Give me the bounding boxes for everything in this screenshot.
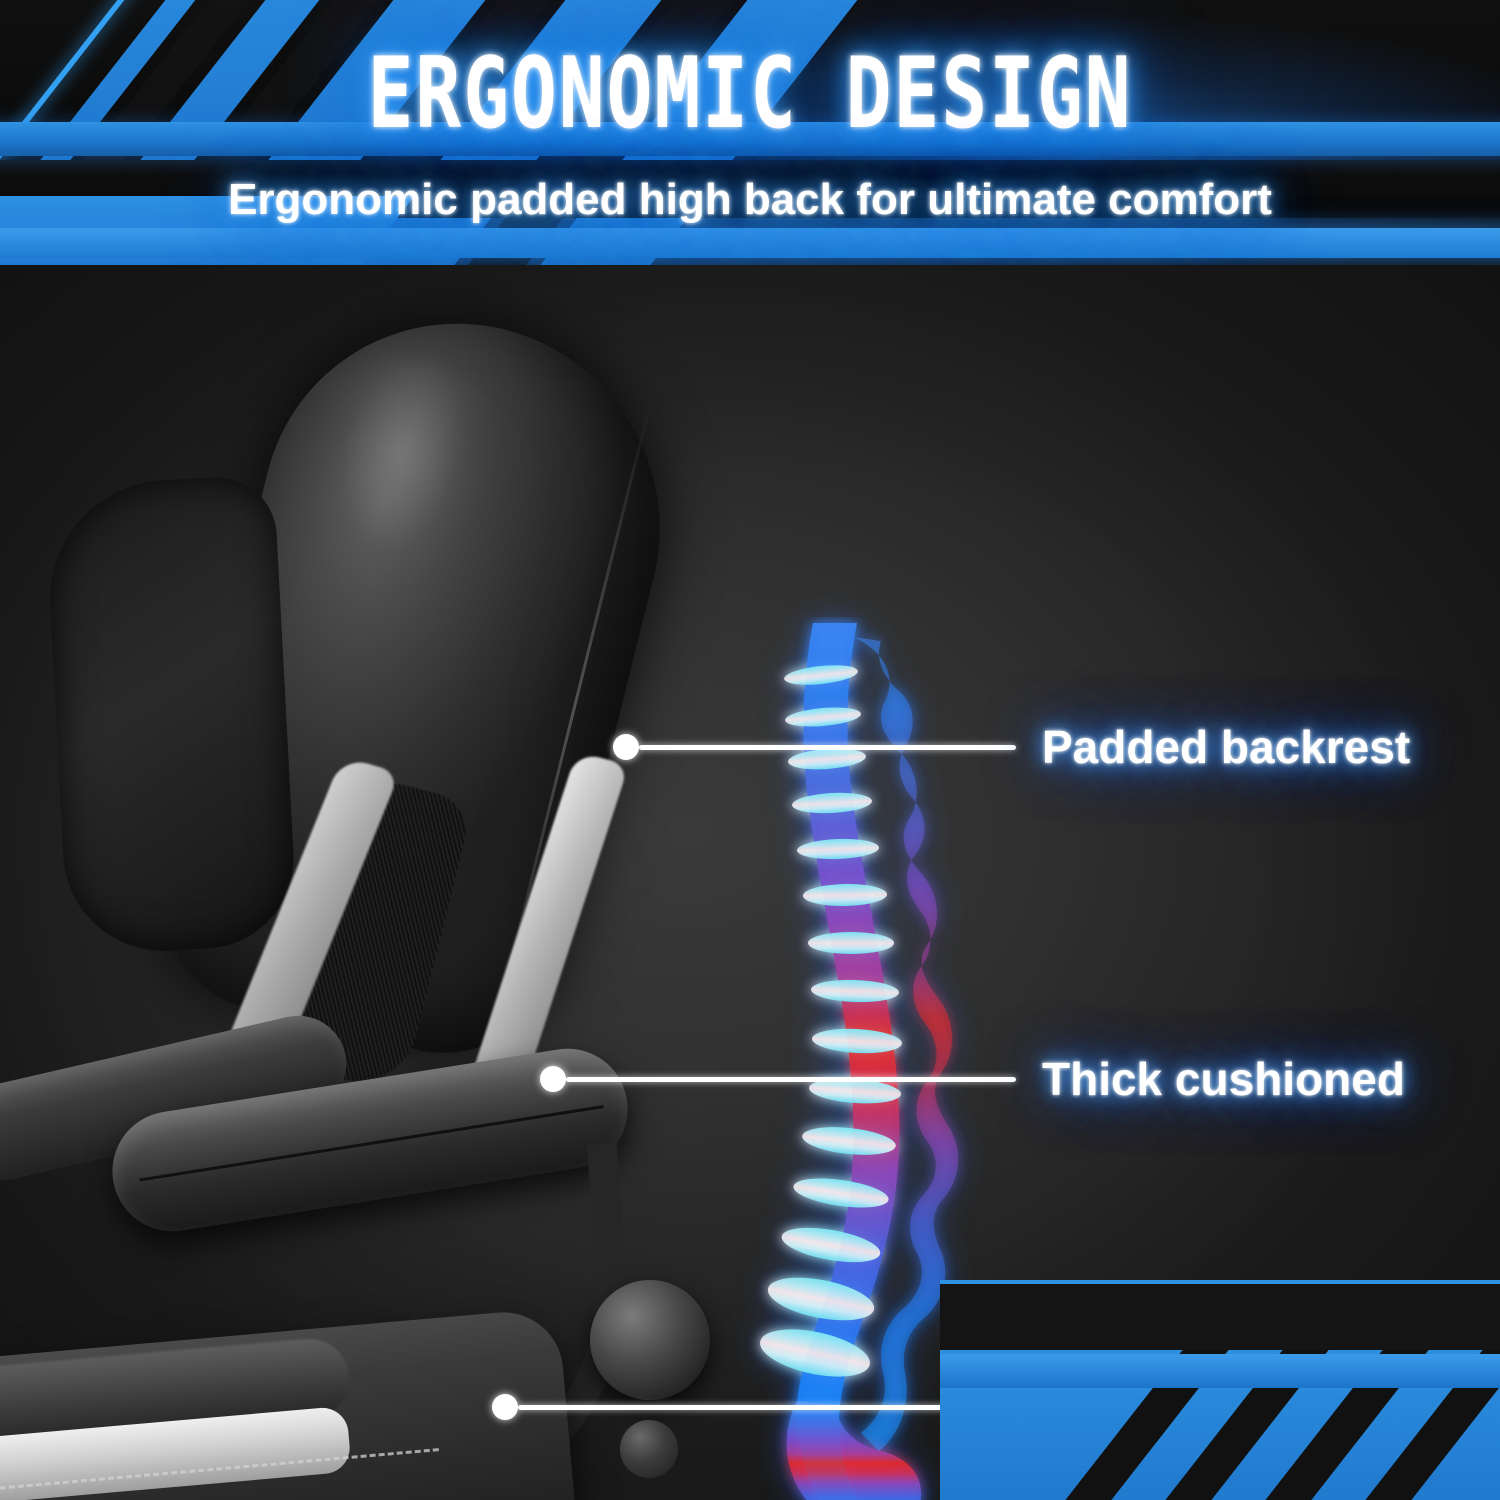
callout-label-thick-cushioned: Thick cushioned <box>1042 1052 1405 1106</box>
deco-blue-bar <box>940 1354 1500 1388</box>
callout-anchor-dot <box>492 1394 518 1420</box>
callout-anchor-dot <box>613 734 639 760</box>
deco-dark-bar <box>940 1280 1500 1350</box>
infographic-canvas: Padded backrest Thick cushioned Ergonomi… <box>0 0 1500 1500</box>
header-blue-bar-lower <box>0 228 1500 258</box>
callout-thick-cushioned: Thick cushioned <box>540 1052 1405 1106</box>
header-banner: ERGONOMIC DESIGN Ergonomic padded high b… <box>0 0 1500 265</box>
callout-padded-backrest: Padded backrest <box>613 720 1410 774</box>
callout-anchor-dot <box>540 1066 566 1092</box>
bottom-right-decoration <box>940 1210 1500 1500</box>
page-subtitle: Ergonomic padded high back for ultimate … <box>0 178 1500 222</box>
page-title: ERGONOMIC DESIGN <box>60 45 1440 143</box>
gaming-chair-image <box>0 280 780 1490</box>
callout-leader-line <box>639 745 1016 750</box>
product-photo-panel: Padded backrest Thick cushioned Ergonomi… <box>0 262 1500 1500</box>
callout-leader-line <box>566 1077 1016 1082</box>
backrest-highlight <box>265 339 527 695</box>
backrest-inner-shadow <box>44 474 298 955</box>
callout-label-padded-backrest: Padded backrest <box>1042 720 1410 774</box>
